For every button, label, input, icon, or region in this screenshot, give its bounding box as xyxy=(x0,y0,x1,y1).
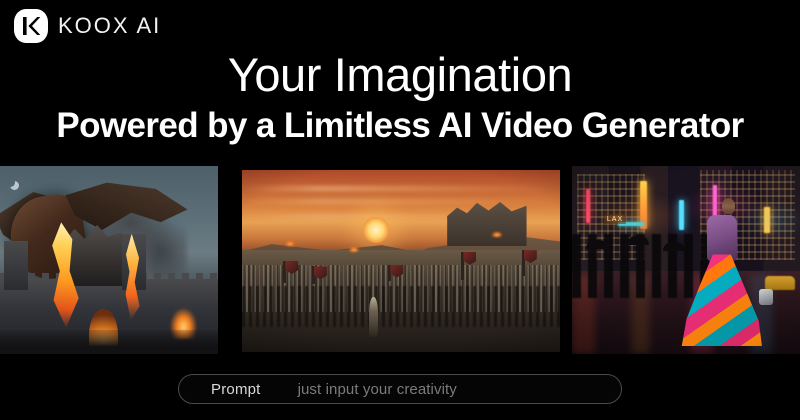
prompt-input-bar[interactable]: Prompt just input your creativity xyxy=(178,374,622,404)
gallery-panel-neon-street-fashion[interactable]: LAX xyxy=(572,166,800,354)
page-subtitle: Powered by a Limitless AI Video Generato… xyxy=(0,103,800,149)
scene-medieval-battlefield-sunset xyxy=(242,170,560,352)
gallery-panel-dragon-burning-castle[interactable] xyxy=(0,166,218,354)
prompt-label: Prompt xyxy=(211,381,261,398)
hero-section: Your Imagination Powered by a Limitless … xyxy=(0,48,800,149)
prompt-placeholder[interactable]: just input your creativity xyxy=(298,381,457,398)
scene-neon-street-fashion: LAX xyxy=(572,166,800,354)
showcase-gallery: LAX xyxy=(0,166,800,354)
scene-dragon-burning-castle xyxy=(0,166,218,354)
brand-name: KOOX AI xyxy=(58,9,161,43)
moon-icon xyxy=(6,178,15,187)
brand-logo[interactable]: KOOX AI xyxy=(14,9,161,43)
vignette xyxy=(572,166,800,354)
castle-tower-left xyxy=(4,241,28,290)
vignette xyxy=(242,170,560,352)
foreground-ground xyxy=(0,330,218,354)
page-title: Your Imagination xyxy=(0,48,800,102)
gallery-panel-medieval-battlefield-sunset[interactable] xyxy=(242,170,560,352)
koox-k-logo-icon xyxy=(14,9,48,43)
